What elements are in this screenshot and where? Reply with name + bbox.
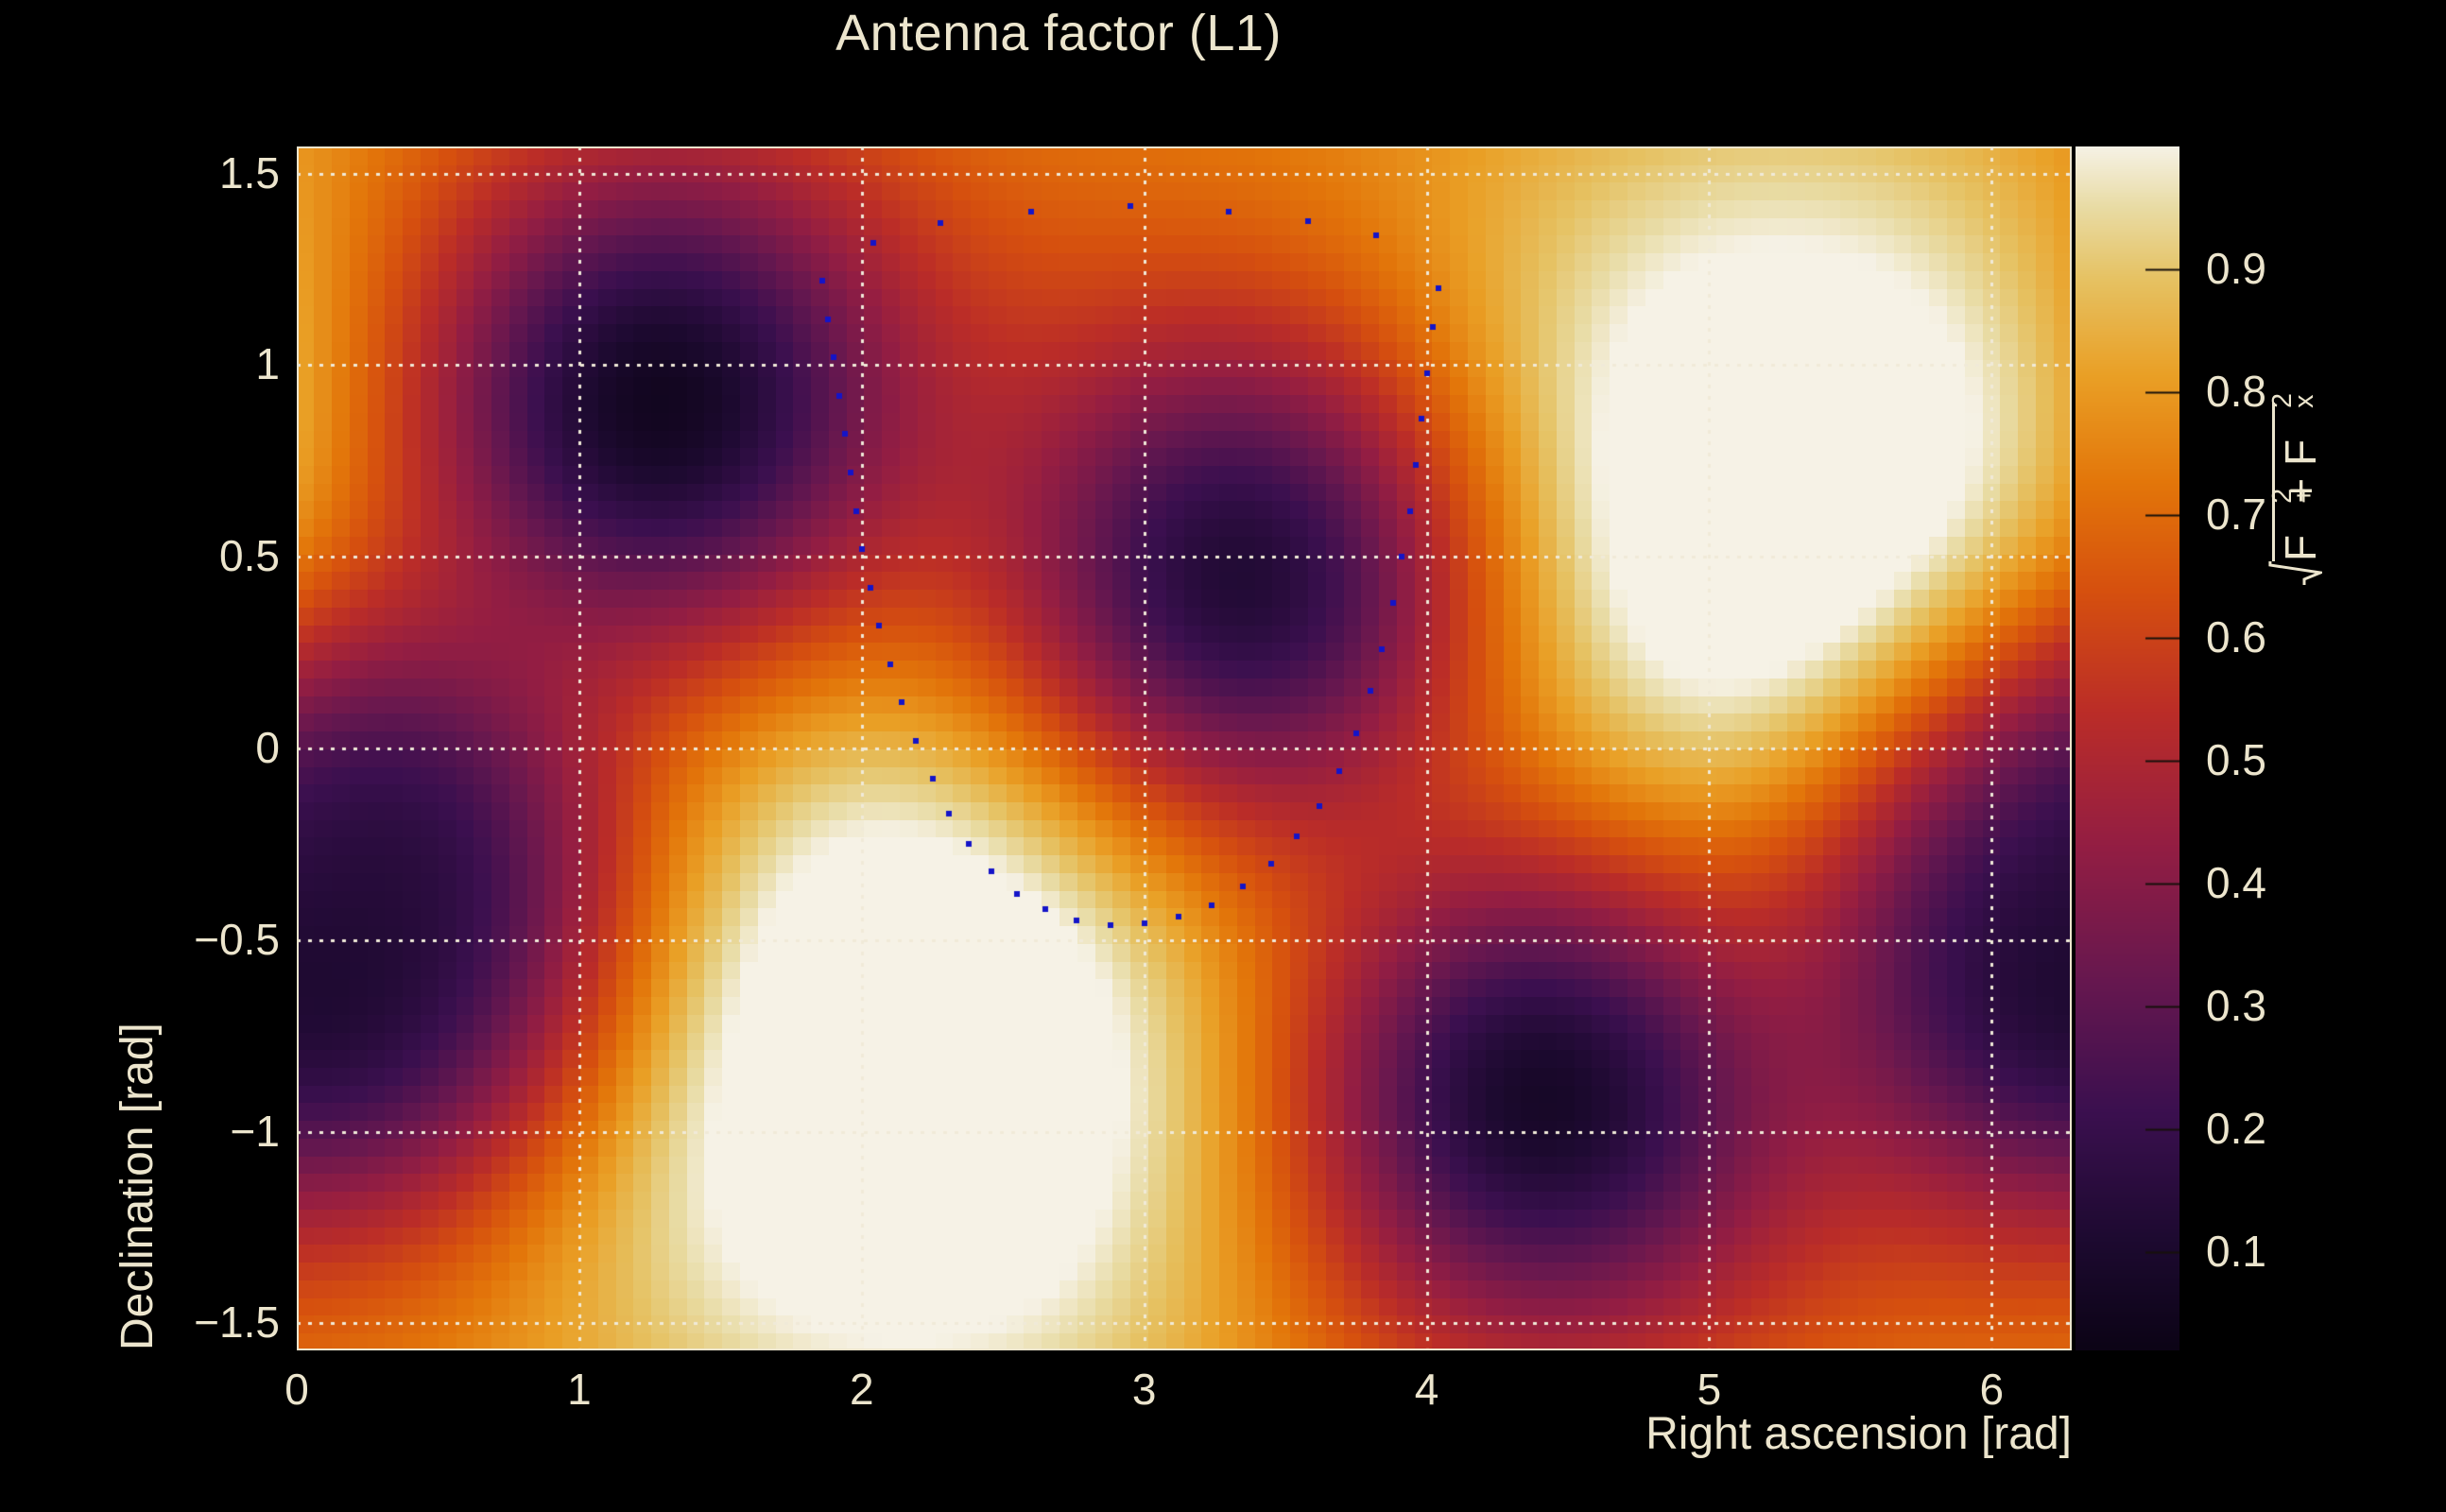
radical-icon: F2++F2x [2268, 403, 2322, 586]
y-tick-label: 0 [255, 726, 280, 769]
color-scale-title: F2++F2x [2268, 403, 2322, 586]
x-tick-label: 6 [1980, 1367, 2005, 1411]
color-scale-title-wrapper: F2++F2x [2268, 132, 2382, 586]
radical-sign-icon [2268, 561, 2322, 586]
f-plus-base: F [2276, 535, 2325, 561]
color-scale-tick-label: 0.1 [2206, 1229, 2266, 1273]
x-axis-title: Right ascension [rad] [1032, 1408, 2072, 1460]
color-scale-tick-label: 0.4 [2206, 861, 2266, 904]
color-scale-tick-label: 0.5 [2206, 738, 2266, 782]
page-title: Antenna factor (L1) [0, 4, 2117, 62]
f-plus-squared: F2+ [2279, 504, 2322, 561]
f-cross-subscript: x [2291, 395, 2318, 408]
f-cross-base: F [2276, 439, 2325, 466]
color-scale-gradient [2076, 146, 2179, 1350]
y-tick-label: 0.5 [219, 534, 280, 577]
color-scale-tick-label: 0.2 [2206, 1107, 2266, 1150]
x-tick-label: 0 [284, 1367, 309, 1411]
x-tick-label: 2 [850, 1367, 874, 1411]
y-axis-title: Declination [rad] [112, 146, 164, 1350]
color-scale-tick-label: 0.8 [2206, 369, 2266, 413]
root-canvas: Antenna factor (L1) −1.5−1−0.500.511.5 0… [0, 0, 2446, 1512]
grid-and-overlay-curve [297, 146, 2072, 1350]
color-scale-tick-label: 0.6 [2206, 615, 2266, 659]
f-cross-squared: F2x [2279, 408, 2322, 466]
y-tick-label: 1 [255, 342, 280, 386]
color-scale-bar [2076, 146, 2179, 1350]
y-tick-label: −1.5 [194, 1300, 280, 1344]
color-scale-tick-label: 0.9 [2206, 247, 2266, 290]
x-tick-label: 4 [1415, 1367, 1439, 1411]
y-tick-label: 1.5 [219, 151, 280, 195]
y-tick-label: −0.5 [194, 918, 280, 961]
x-tick-label: 1 [567, 1367, 592, 1411]
radical-contents: F2++F2x [2272, 403, 2322, 561]
x-tick-label: 3 [1132, 1367, 1157, 1411]
x-tick-label: 5 [1697, 1367, 1722, 1411]
color-scale-tick-label: 0.7 [2206, 492, 2266, 536]
plot-area [297, 146, 2072, 1350]
f-plus-subscript: + [2291, 488, 2318, 504]
y-tick-label: −1 [231, 1109, 280, 1153]
color-scale-tick-label: 0.3 [2206, 984, 2266, 1027]
